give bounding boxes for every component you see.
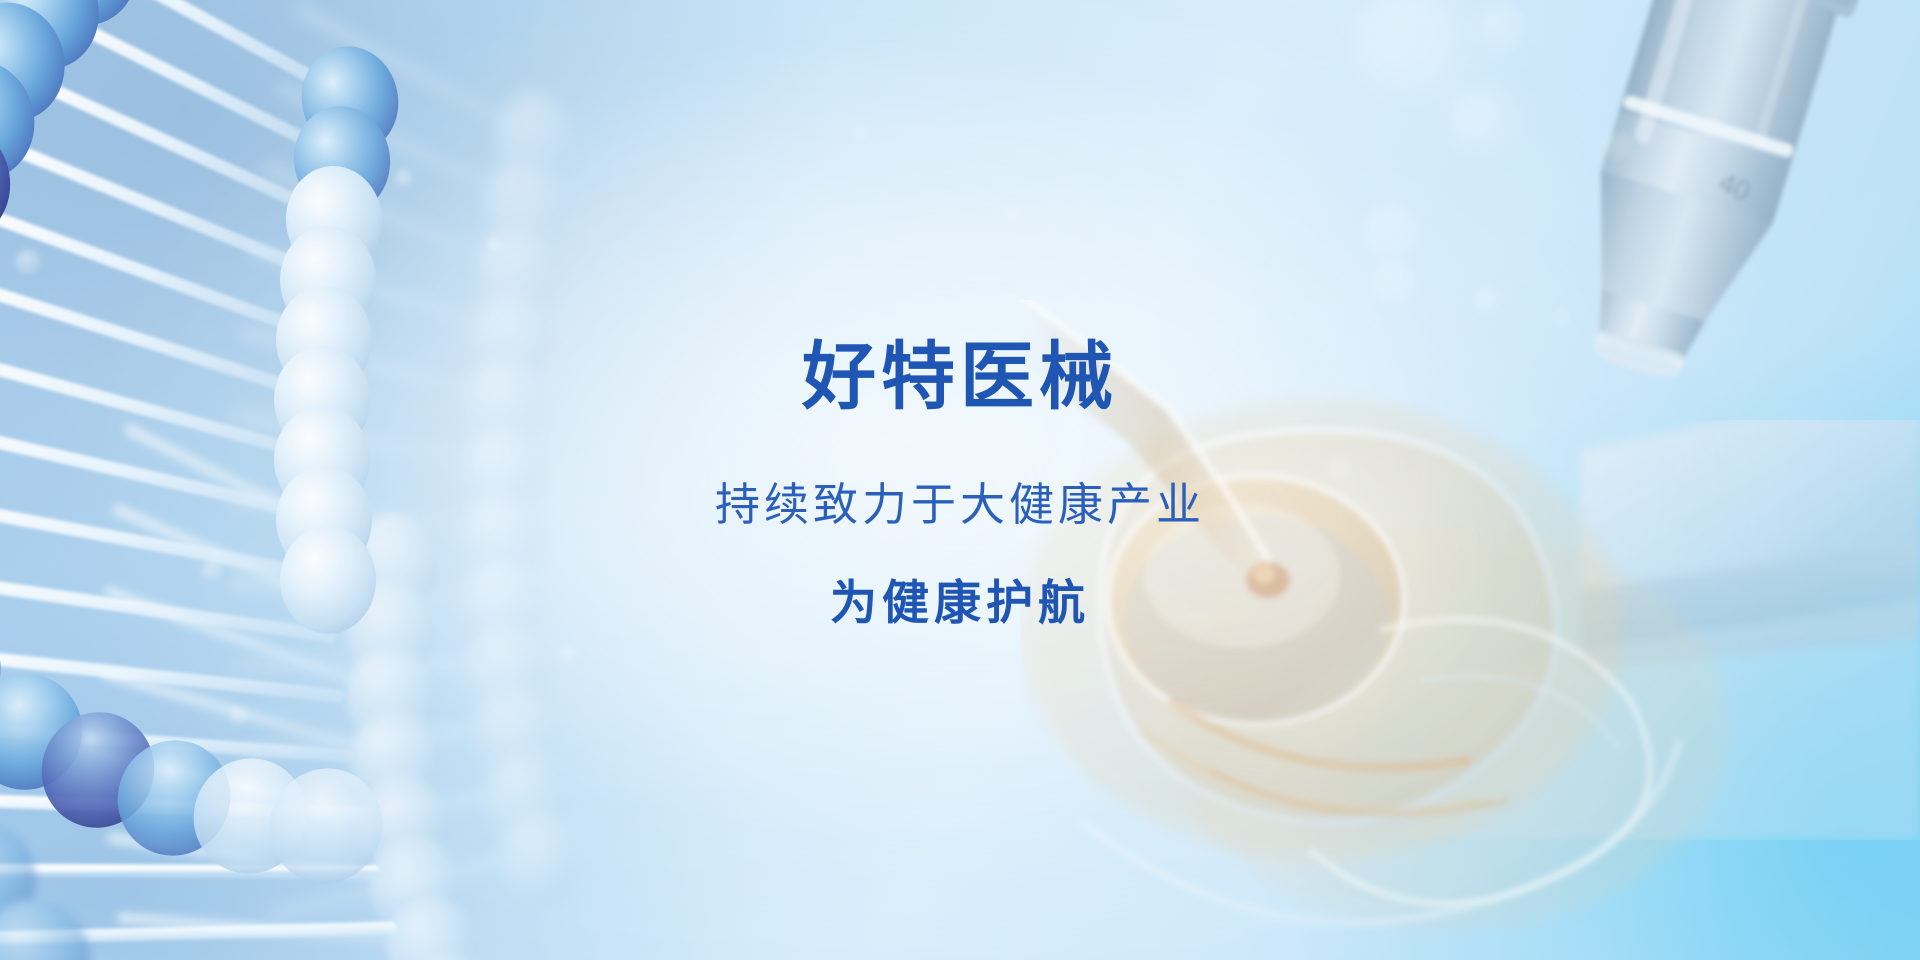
hero-banner: 40 xyxy=(0,0,1920,960)
hero-tagline: 为健康护航 xyxy=(0,579,1920,626)
hero-text-block: 好特医械 持续致力于大健康产业 为健康护航 xyxy=(0,340,1920,626)
hero-subtitle: 持续致力于大健康产业 xyxy=(0,482,1920,527)
page-title: 好特医械 xyxy=(0,340,1920,414)
